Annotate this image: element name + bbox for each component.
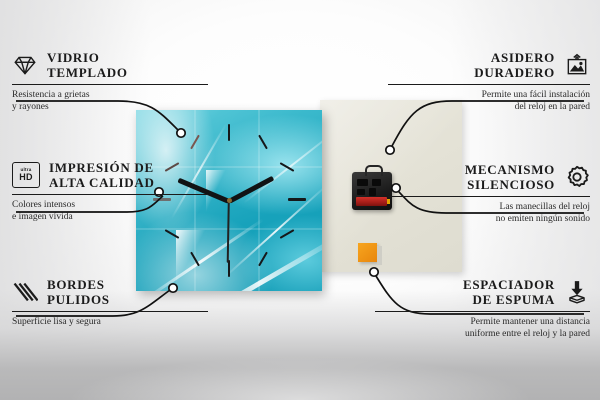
ultra-hd-icon-main: HD [19, 173, 32, 182]
feature-subtitle: Resistencia a grietas y rayones [12, 90, 208, 113]
feature-mecanismo-silencioso: MECANISMO SILENCIOSO Las manecillas del … [388, 162, 590, 225]
feature-divider [388, 84, 590, 85]
diamond-icon [12, 52, 38, 78]
feature-subtitle: Colores intensos e imagen vívida [12, 200, 208, 223]
infographic-canvas: VIDRIO TEMPLADO Resistencia a grietas y … [0, 0, 600, 400]
feature-divider [12, 84, 208, 85]
feature-divider [12, 194, 208, 195]
feature-title: ESPACIADOR DE ESPUMA [463, 277, 555, 307]
feature-divider [12, 311, 208, 312]
foam-spacer-arrow-icon [564, 279, 590, 305]
polished-edges-icon [12, 279, 38, 305]
feature-espaciador-de-espuma: ESPACIADOR DE ESPUMA Permite mantener un… [375, 277, 590, 340]
feature-asidero-duradero: ASIDERO DURADERO Permite una fácil insta… [388, 50, 590, 113]
feature-subtitle: Superficie lisa y segura [12, 317, 208, 329]
feature-subtitle: Permite una fácil instalación del reloj … [388, 90, 590, 113]
feature-divider [375, 311, 590, 312]
feature-title: ASIDERO DURADERO [474, 50, 555, 80]
wire-dot-espaciador [370, 268, 378, 276]
wire-dot-asidero [386, 146, 394, 154]
feature-subtitle: Las manecillas del reloj no emiten ningú… [388, 202, 590, 225]
feature-divider [388, 196, 590, 197]
feature-title: BORDES PULIDOS [47, 277, 110, 307]
picture-frame-hanger-icon [564, 52, 590, 78]
ultra-hd-icon: ultra HD [12, 162, 40, 188]
wire-dot-vidrio [177, 129, 185, 137]
feature-impresion-alta-calidad: ultra HD IMPRESIÓN DE ALTA CALIDAD Color… [12, 160, 208, 223]
feature-bordes-pulidos: BORDES PULIDOS Superficie lisa y segura [12, 277, 208, 329]
feature-vidrio-templado: VIDRIO TEMPLADO Resistencia a grietas y … [12, 50, 208, 113]
feature-subtitle: Permite mantener una distancia uniforme … [375, 317, 590, 340]
feature-title: MECANISMO SILENCIOSO [465, 162, 555, 192]
feature-title: VIDRIO TEMPLADO [47, 50, 128, 80]
feature-title: IMPRESIÓN DE ALTA CALIDAD [49, 160, 155, 190]
gear-icon [564, 164, 590, 190]
